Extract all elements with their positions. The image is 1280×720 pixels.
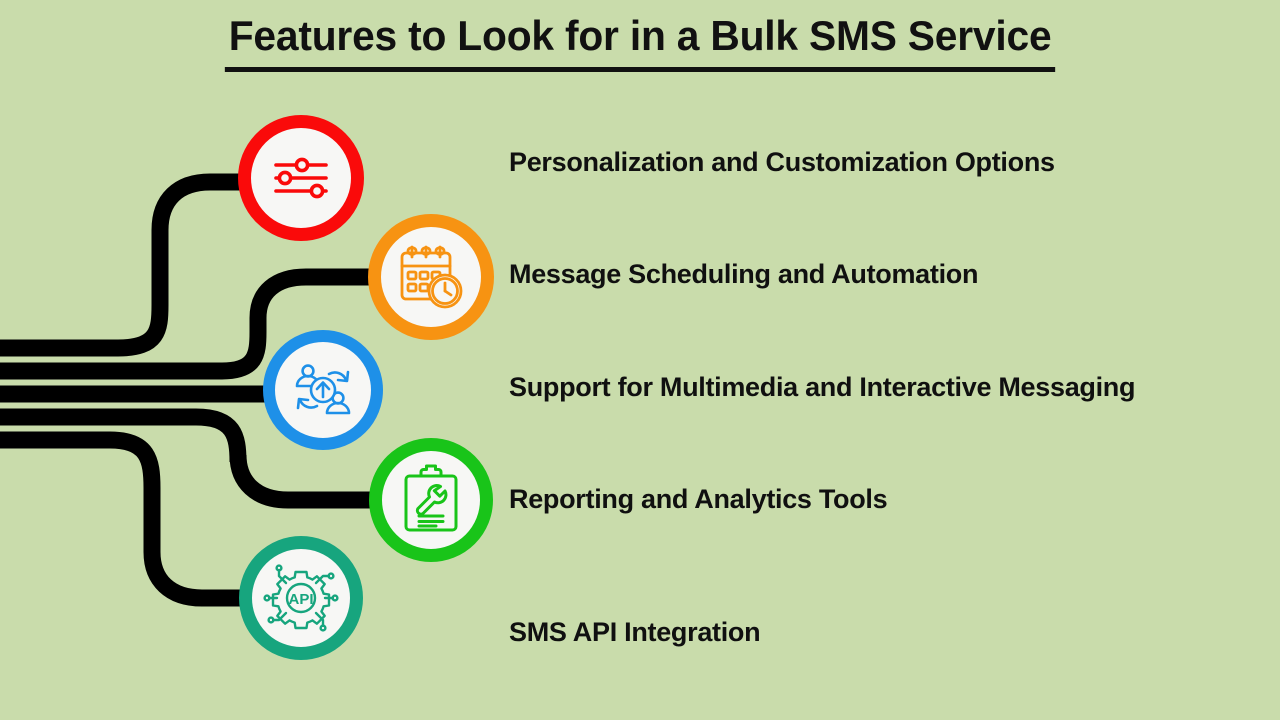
feature-label-2: Message Scheduling and Automation bbox=[509, 259, 978, 290]
connector-lines bbox=[0, 0, 1280, 720]
feature-label-3: Support for Multimedia and Interactive M… bbox=[509, 372, 1135, 403]
feature-label-4: Reporting and Analytics Tools bbox=[509, 484, 887, 515]
feature-label-1: Personalization and Customization Option… bbox=[509, 147, 1055, 178]
clipboard-wrench-icon bbox=[394, 463, 468, 537]
feature-label-5: SMS API Integration bbox=[509, 617, 760, 648]
feature-node-4[interactable] bbox=[369, 438, 493, 562]
api-icon-text: API bbox=[288, 591, 313, 608]
feature-node-3[interactable] bbox=[263, 330, 383, 450]
feature-node-5[interactable]: API bbox=[239, 536, 363, 660]
infographic-canvas: Features to Look for in a Bulk SMS Servi… bbox=[0, 0, 1280, 720]
calendar-clock-icon bbox=[393, 239, 469, 315]
sliders-settings-icon bbox=[264, 141, 338, 215]
feature-node-2[interactable] bbox=[368, 214, 494, 340]
connector-path-1 bbox=[0, 182, 240, 348]
users-share-arrows-icon bbox=[287, 354, 359, 426]
feature-node-1[interactable] bbox=[238, 115, 364, 241]
gear-api-circuit-icon: API bbox=[262, 559, 340, 637]
connector-path-5 bbox=[0, 440, 242, 598]
